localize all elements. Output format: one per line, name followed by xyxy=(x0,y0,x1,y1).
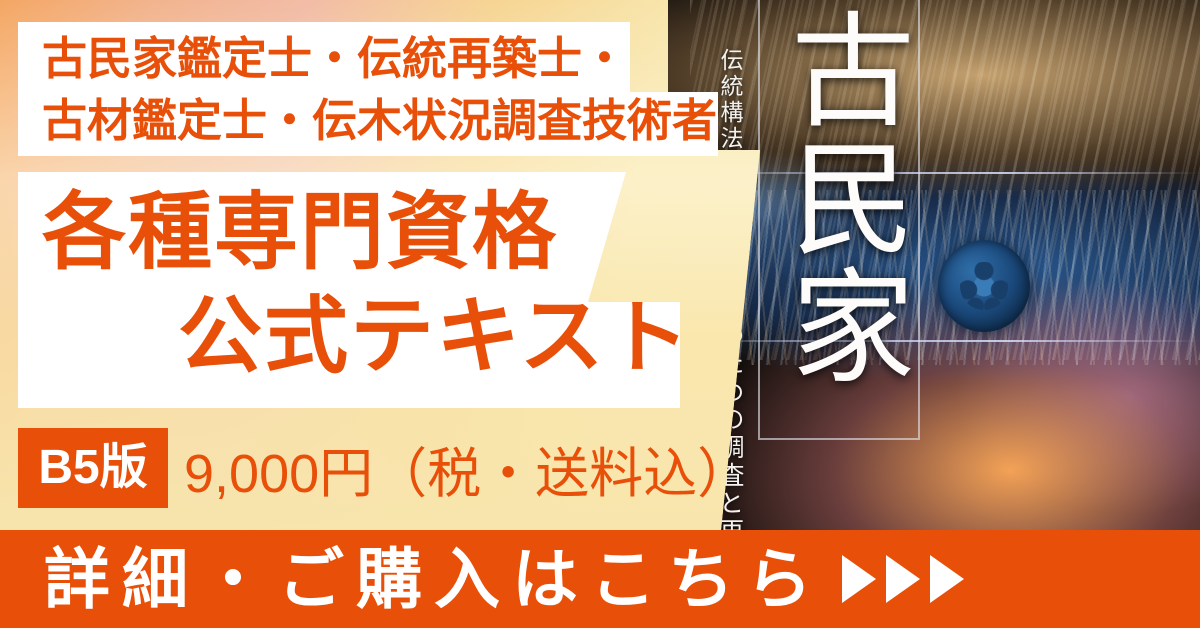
qualifications-line-1: 古民家鑑定士・伝統再築士・ xyxy=(42,28,627,90)
cta-label: 詳細・ご購入はこちら xyxy=(44,546,824,612)
headline-line-1: 各種専門資格 xyxy=(42,184,558,280)
qualifications-line-2: 古材鑑定士・伝木状況調査技術者 xyxy=(42,90,717,152)
cover-title: 古民家 xyxy=(768,6,910,436)
promo-banner: 古民家 伝統構法 古民家活用のための調査と再生の 古民家鑑定士・伝統再築士・ 古… xyxy=(0,0,1200,628)
family-crest-medallion xyxy=(938,240,1030,332)
cta-arrow-group xyxy=(842,555,964,603)
size-badge-label: B5版 xyxy=(38,444,147,492)
cta-bar[interactable]: 詳細・ご購入はこちら xyxy=(0,530,1200,628)
qualifications-box: 古民家鑑定士・伝統再築士・ 古材鑑定士・伝木状況調査技術者 xyxy=(18,22,718,156)
headline-box: 各種専門資格 公式テキスト xyxy=(18,172,680,408)
size-badge: B5版 xyxy=(18,428,168,508)
play-arrow-icon-3 xyxy=(930,555,964,603)
play-arrow-icon-2 xyxy=(886,555,920,603)
play-arrow-icon-1 xyxy=(842,555,876,603)
headline-line-2: 公式テキスト xyxy=(178,288,691,384)
price-label: 9,000円（税・送料込） xyxy=(184,428,751,508)
